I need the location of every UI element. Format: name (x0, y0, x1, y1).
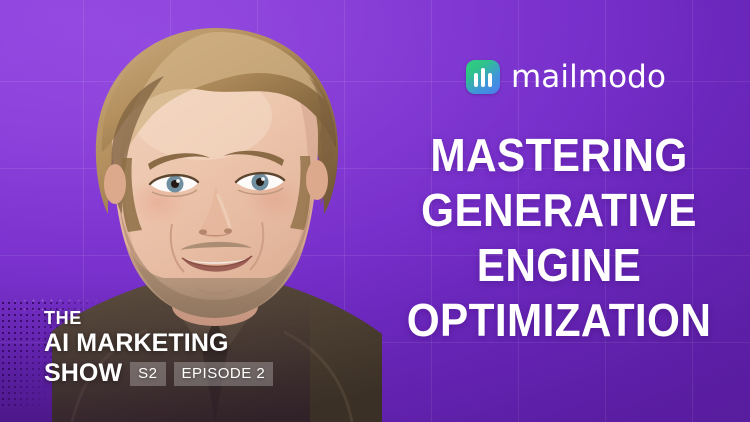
brand-wordmark: mailmodo (511, 62, 666, 93)
season-badge: S2 (130, 362, 165, 386)
logo-bar-1 (474, 73, 478, 87)
show-name-line-1: AI MARKETING (44, 329, 273, 358)
show-name-line-2: SHOW (44, 359, 122, 388)
video-thumbnail: mailmodo MASTERING GENERATIVE ENGINE OPT… (0, 0, 750, 422)
logo-bar-3 (488, 73, 492, 87)
headline-line-1: MASTERING (405, 128, 712, 183)
mailmodo-bars-logo-icon (466, 60, 500, 94)
episode-badge: EPISODE 2 (174, 362, 274, 386)
headline-line-3: ENGINE (405, 238, 712, 293)
headline: MASTERING GENERATIVE ENGINE OPTIMIZATION (392, 128, 726, 348)
show-name-and-badges-row: SHOW S2 EPISODE 2 (44, 359, 273, 388)
brand-lockup: mailmodo (466, 60, 666, 94)
headline-line-2: GENERATIVE (405, 183, 712, 238)
show-kicker: THE (44, 307, 273, 329)
show-title-block: THE AI MARKETING SHOW S2 EPISODE 2 (44, 307, 273, 388)
logo-bar-2 (481, 68, 485, 87)
headline-line-4: OPTIMIZATION (405, 293, 712, 348)
